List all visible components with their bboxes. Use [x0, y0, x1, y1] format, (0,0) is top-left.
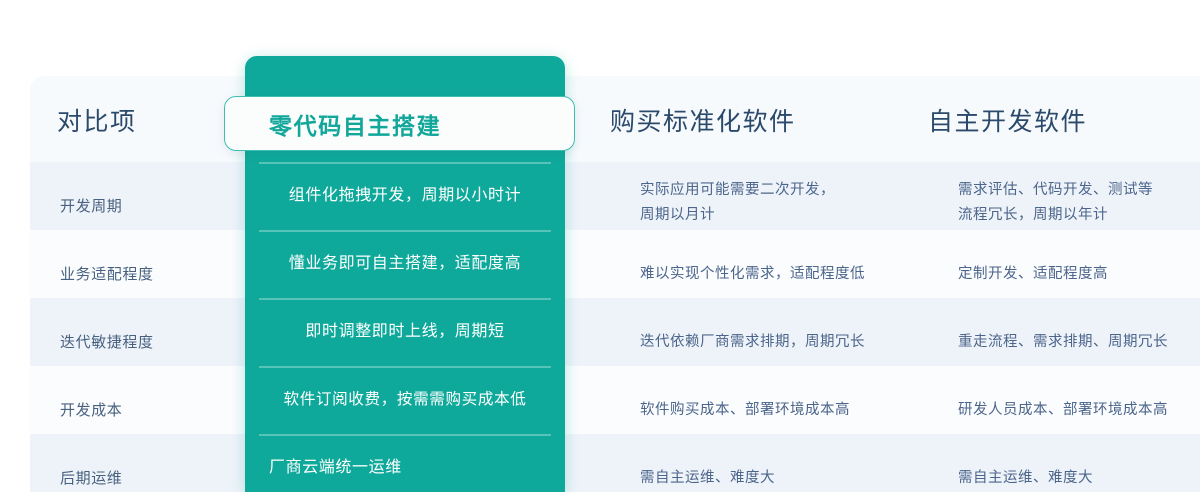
column-divider — [259, 162, 551, 164]
cell-b-development-cycle: 实际应用可能需要二次开发， 周期以月计 — [640, 178, 940, 228]
row-label-business-fit: 业务适配程度 — [60, 263, 154, 284]
row-label-development-cycle: 开发周期 — [60, 195, 122, 216]
column-divider — [259, 298, 551, 300]
comparison-card: 对比项 开发周期 业务适配程度 迭代敏捷程度 开发成本 后期运维 购买标准化软件… — [30, 76, 1200, 492]
highlight-column-badge-label: 零代码自主搭建 — [225, 107, 441, 141]
column-divider — [259, 366, 551, 368]
cell-c-development-cycle: 需求评估、代码开发、测试等 流程冗长，周期以年计 — [958, 178, 1200, 228]
highlight-column-badge[interactable]: 零代码自主搭建 — [224, 96, 575, 151]
cell-c-iteration-agility: 重走流程、需求排期、周期冗长 — [958, 330, 1200, 355]
column-divider — [259, 230, 551, 232]
row-label-iteration-agility: 迭代敏捷程度 — [60, 331, 154, 352]
cell-highlight-maintenance: 厂商云端统一运维 — [245, 456, 565, 480]
column-header-custom-development: 自主开发软件 — [928, 102, 1087, 138]
cell-highlight-business-fit: 懂业务即可自主搭建，适配度高 — [245, 252, 565, 276]
cell-b-development-cost: 软件购买成本、部署环境成本高 — [640, 398, 940, 423]
cell-b-business-fit: 难以实现个性化需求，适配程度低 — [640, 262, 940, 287]
column-header-standard-software: 购买标准化软件 — [610, 102, 796, 138]
column-divider — [259, 434, 551, 436]
comparison-table-page: 对比项 开发周期 业务适配程度 迭代敏捷程度 开发成本 后期运维 购买标准化软件… — [0, 0, 1200, 492]
row-label-maintenance: 后期运维 — [60, 467, 122, 488]
cell-highlight-development-cycle: 组件化拖拽开发，周期以小时计 — [245, 184, 565, 208]
cell-c-development-cost: 研发人员成本、部署环境成本高 — [958, 398, 1200, 423]
cell-b-maintenance: 需自主运维、难度大 — [640, 466, 940, 491]
cell-b-iteration-agility: 迭代依赖厂商需求排期，周期冗长 — [640, 330, 940, 355]
cell-highlight-development-cost: 软件订阅收费，按需需购买成本低 — [242, 388, 568, 412]
column-header-label: 对比项 — [57, 102, 137, 138]
row-label-development-cost: 开发成本 — [60, 399, 122, 420]
cell-c-business-fit: 定制开发、适配程度高 — [958, 262, 1200, 287]
cell-highlight-iteration-agility: 即时调整即时上线，周期短 — [245, 320, 565, 344]
cell-c-maintenance: 需自主运维、难度大 — [958, 466, 1200, 491]
